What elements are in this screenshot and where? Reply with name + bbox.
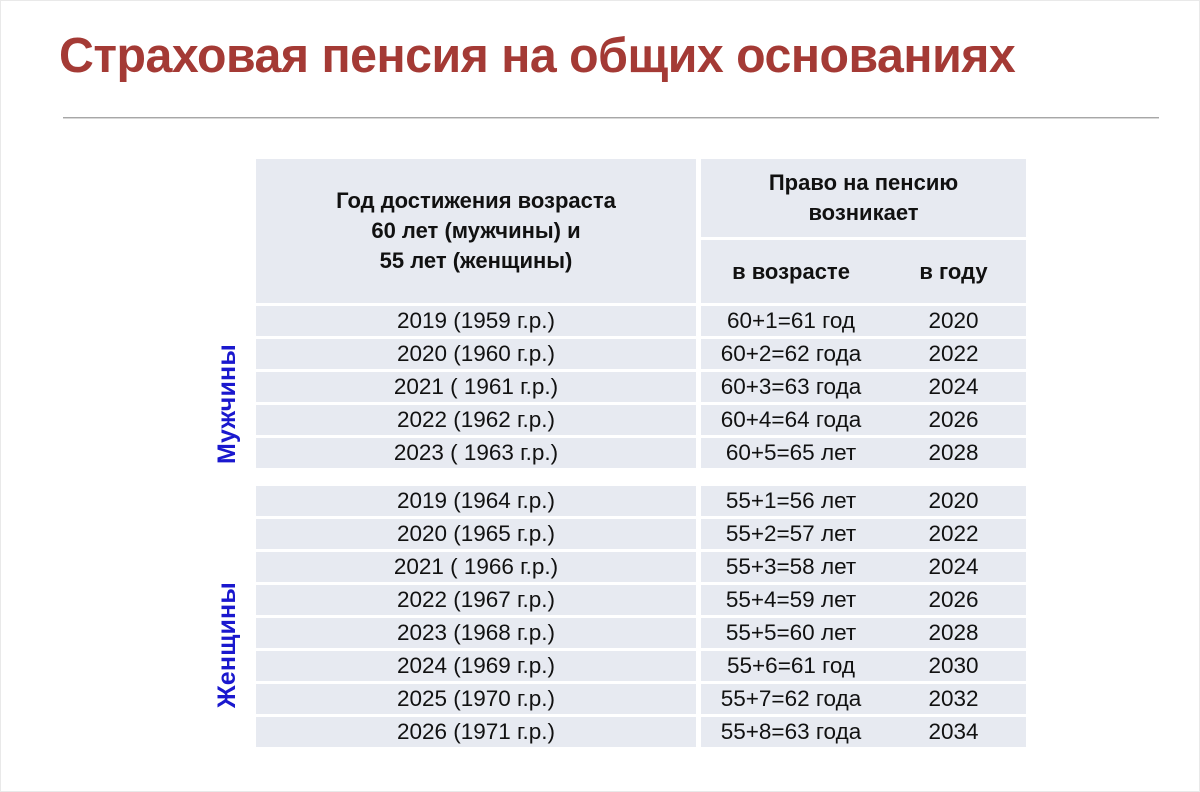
table-row: 2019 (1959 г.р.)60+1=61 год2020 bbox=[256, 306, 1026, 339]
cell-year-reached: 2019 (1959 г.р.) bbox=[256, 306, 696, 339]
header-right-line-2: возникает bbox=[701, 198, 1026, 228]
header-right-line-1: Право на пенсию bbox=[701, 168, 1026, 198]
table-row: 2021 ( 1961 г.р.)60+3=63 года2024 bbox=[256, 372, 1026, 405]
cell-year-reached: 2020 (1965 г.р.) bbox=[256, 519, 696, 552]
cell-retirement-age: 55+3=58 лет bbox=[701, 552, 881, 585]
section-separator-cell bbox=[701, 471, 881, 486]
table-row: 2020 (1960 г.р.)60+2=62 года2022 bbox=[256, 339, 1026, 372]
cell-retirement-age: 60+1=61 год bbox=[701, 306, 881, 339]
section-label-women: Женщины bbox=[213, 582, 242, 708]
cell-year-reached: 2025 (1970 г.р.) bbox=[256, 684, 696, 717]
cell-year-reached: 2020 (1960 г.р.) bbox=[256, 339, 696, 372]
header-line-1: Год достижения возраста bbox=[256, 186, 696, 216]
table-row: 2026 (1971 г.р.)55+8=63 года2034 bbox=[256, 717, 1026, 747]
slide-canvas: Страховая пенсия на общих основаниях Муж… bbox=[0, 0, 1200, 792]
cell-year-reached: 2023 (1968 г.р.) bbox=[256, 618, 696, 651]
header-line-2: 60 лет (мужчины) и bbox=[256, 216, 696, 246]
cell-retirement-year: 2022 bbox=[881, 519, 1026, 552]
cell-retirement-age: 55+4=59 лет bbox=[701, 585, 881, 618]
header-cell-year-reached: Год достижения возраста 60 лет (мужчины)… bbox=[256, 159, 696, 306]
cell-retirement-age: 60+4=64 года bbox=[701, 405, 881, 438]
cell-retirement-age: 55+1=56 лет bbox=[701, 486, 881, 519]
section-label-men: Мужчины bbox=[213, 344, 242, 464]
pension-table: Год достижения возраста 60 лет (мужчины)… bbox=[256, 159, 1026, 747]
cell-retirement-age: 55+8=63 года bbox=[701, 717, 881, 747]
cell-retirement-age: 55+5=60 лет bbox=[701, 618, 881, 651]
cell-year-reached: 2024 (1969 г.р.) bbox=[256, 651, 696, 684]
cell-retirement-age: 60+3=63 года bbox=[701, 372, 881, 405]
cell-retirement-year: 2024 bbox=[881, 372, 1026, 405]
cell-retirement-year: 2028 bbox=[881, 438, 1026, 471]
table-row: 2021 ( 1966 г.р.)55+3=58 лет2024 bbox=[256, 552, 1026, 585]
cell-retirement-age: 55+6=61 год bbox=[701, 651, 881, 684]
title-divider bbox=[63, 117, 1159, 119]
cell-retirement-year: 2022 bbox=[881, 339, 1026, 372]
page-title: Страховая пенсия на общих основаниях bbox=[59, 27, 1143, 85]
table-header-row-1: Год достижения возраста 60 лет (мужчины)… bbox=[256, 159, 1026, 240]
table-row: 2019 (1964 г.р.)55+1=56 лет2020 bbox=[256, 486, 1026, 519]
cell-year-reached: 2021 ( 1966 г.р.) bbox=[256, 552, 696, 585]
table-row: 2022 (1962 г.р.)60+4=64 года2026 bbox=[256, 405, 1026, 438]
cell-retirement-age: 60+2=62 года bbox=[701, 339, 881, 372]
cell-retirement-year: 2020 bbox=[881, 306, 1026, 339]
cell-retirement-year: 2028 bbox=[881, 618, 1026, 651]
cell-retirement-year: 2026 bbox=[881, 585, 1026, 618]
table-row: 2020 (1965 г.р.)55+2=57 лет2022 bbox=[256, 519, 1026, 552]
cell-retirement-year: 2034 bbox=[881, 717, 1026, 747]
cell-year-reached: 2023 ( 1963 г.р.) bbox=[256, 438, 696, 471]
table-row: 2023 (1968 г.р.)55+5=60 лет2028 bbox=[256, 618, 1026, 651]
cell-year-reached: 2022 (1962 г.р.) bbox=[256, 405, 696, 438]
table-row: 2023 ( 1963 г.р.)60+5=65 лет2028 bbox=[256, 438, 1026, 471]
cell-retirement-year: 2024 bbox=[881, 552, 1026, 585]
section-separator bbox=[256, 471, 1026, 486]
pension-table-wrapper: Год достижения возраста 60 лет (мужчины)… bbox=[256, 159, 1026, 747]
header-cell-in-year: в году bbox=[881, 240, 1026, 306]
cell-retirement-year: 2026 bbox=[881, 405, 1026, 438]
cell-retirement-age: 55+2=57 лет bbox=[701, 519, 881, 552]
cell-retirement-age: 60+5=65 лет bbox=[701, 438, 881, 471]
cell-year-reached: 2026 (1971 г.р.) bbox=[256, 717, 696, 747]
cell-retirement-year: 2020 bbox=[881, 486, 1026, 519]
cell-retirement-year: 2030 bbox=[881, 651, 1026, 684]
cell-year-reached: 2022 (1967 г.р.) bbox=[256, 585, 696, 618]
header-cell-pension-right-group: Право на пенсию возникает bbox=[701, 159, 1026, 240]
cell-year-reached: 2021 ( 1961 г.р.) bbox=[256, 372, 696, 405]
section-separator-cell bbox=[256, 471, 696, 486]
section-separator-cell bbox=[881, 471, 1026, 486]
cell-retirement-year: 2032 bbox=[881, 684, 1026, 717]
header-line-3: 55 лет (женщины) bbox=[256, 246, 696, 276]
cell-year-reached: 2019 (1964 г.р.) bbox=[256, 486, 696, 519]
header-cell-at-age: в возрасте bbox=[701, 240, 881, 306]
table-row: 2022 (1967 г.р.)55+4=59 лет2026 bbox=[256, 585, 1026, 618]
table-row: 2025 (1970 г.р.)55+7=62 года2032 bbox=[256, 684, 1026, 717]
table-row: 2024 (1969 г.р.)55+6=61 год2030 bbox=[256, 651, 1026, 684]
cell-retirement-age: 55+7=62 года bbox=[701, 684, 881, 717]
